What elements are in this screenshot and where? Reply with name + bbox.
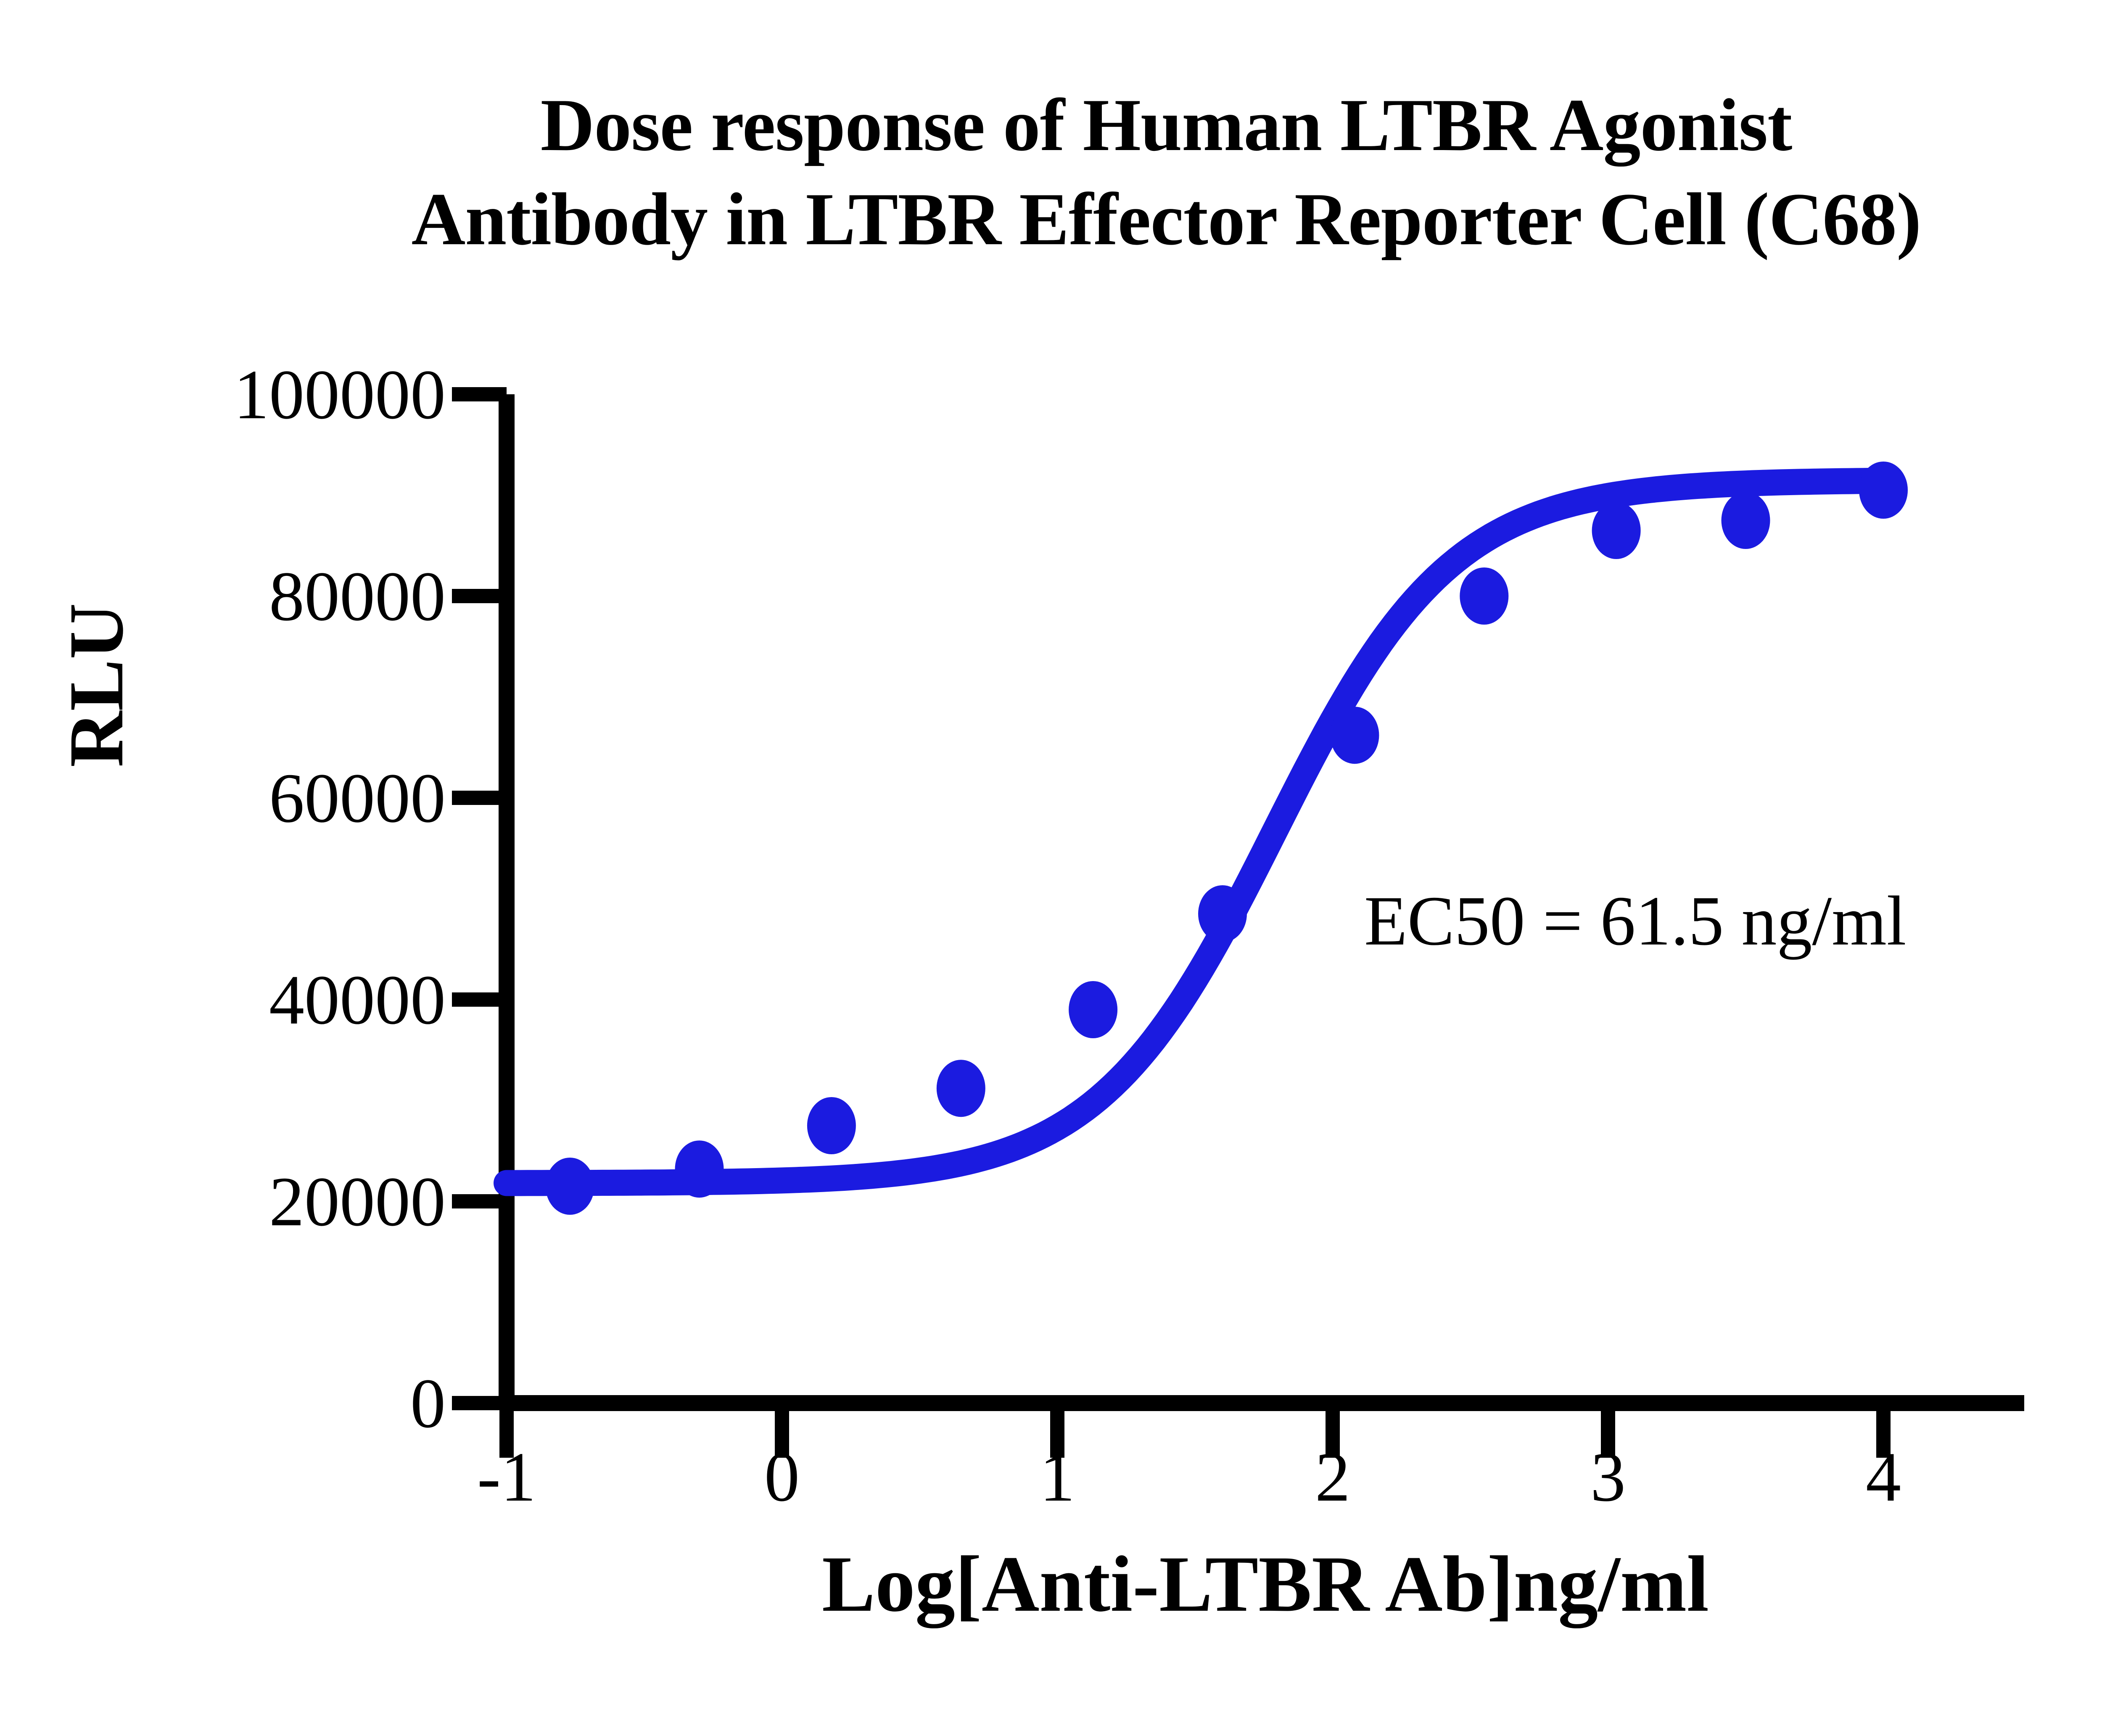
fit-curve-line: [507, 481, 1883, 1183]
data-point: [546, 1158, 594, 1215]
data-point: [1460, 567, 1508, 625]
data-point: [937, 1060, 985, 1117]
data-point: [675, 1140, 724, 1198]
x-tick-marks: [507, 1403, 1883, 1458]
data-point: [1198, 885, 1247, 942]
data-point: [807, 1097, 856, 1154]
plot-area: [0, 0, 2102, 1736]
data-point-group: [546, 462, 1908, 1215]
data-point: [1069, 981, 1117, 1038]
data-point: [1859, 462, 1908, 519]
data-point: [1592, 502, 1641, 559]
chart-figure: Dose response of Human LTBR Agonist Anti…: [0, 0, 2102, 1736]
y-tick-marks: [452, 394, 507, 1403]
data-point: [1722, 492, 1770, 549]
data-point: [1330, 707, 1379, 764]
